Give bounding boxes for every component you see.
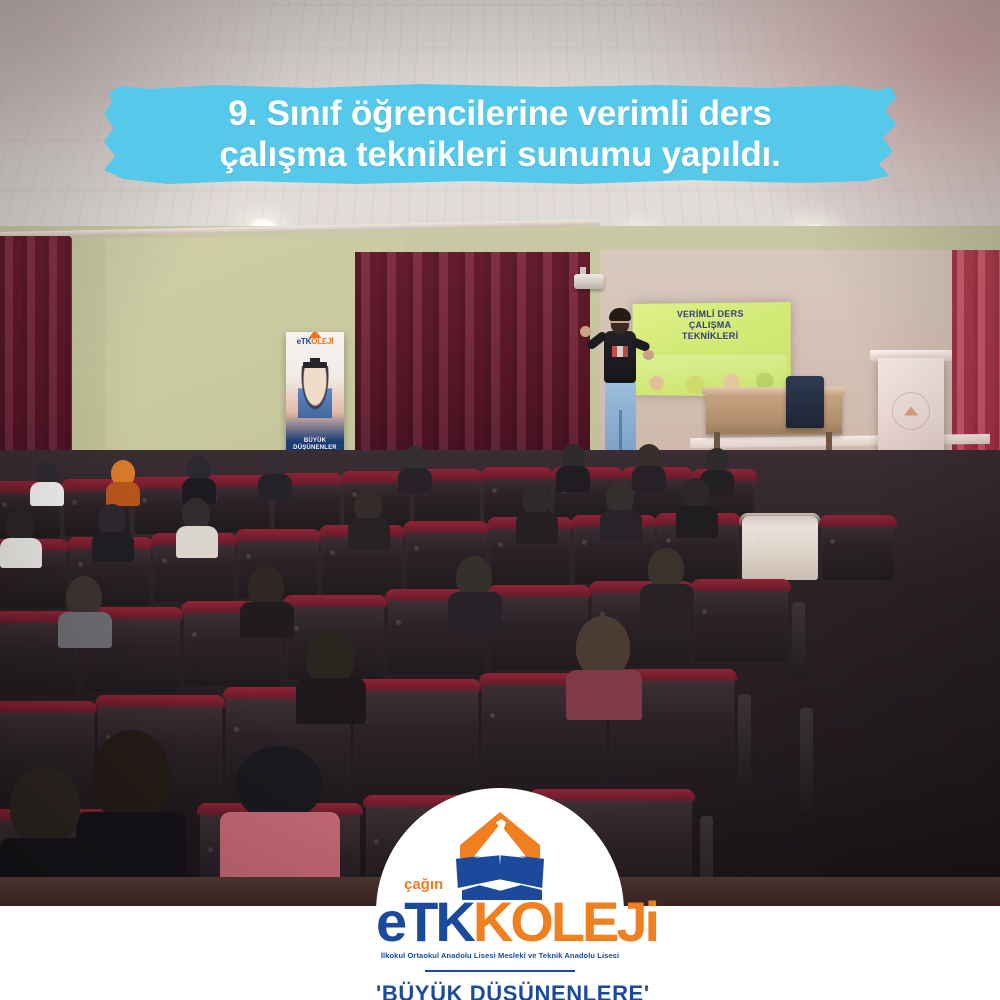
rollup-brand: eTKOLEJİ [286,337,344,346]
podium-logo [892,392,930,430]
audience-member [176,498,218,552]
seat [822,518,894,580]
brand-e: e [376,890,404,953]
stage-chair [786,376,824,428]
person-body [398,468,432,494]
poster-canvas: VERİMLİ DERS ÇALIŞMA TEKNİKLERİ eTKOLEJİ [0,0,1000,1000]
audience-member [296,630,366,716]
rollup-brand-rest: OLEJİ [311,337,333,346]
etk-koleji-logo-icon [454,812,546,892]
headline-line-2: çalışma teknikleri sunumu yapıldı. [219,134,780,175]
screen-title-line2: ÇALIŞMA [633,319,791,331]
person-body [176,526,218,558]
audience-member [556,444,590,490]
audience-member [640,548,694,612]
person-body [600,510,642,542]
seat [742,516,818,580]
audience-member [182,456,216,498]
person-body [106,482,140,506]
audience-member [0,510,42,562]
audience-member [30,462,64,502]
presenter-hair [609,308,631,321]
logo-book-right-page [499,854,544,888]
screen-title: VERİMLİ DERS ÇALIŞMA TEKNİKLERİ [633,308,791,342]
person-body [676,506,718,538]
rollup-banner: eTKOLEJİ BÜYÜK DÜŞÜNENLER İÇİN [286,332,344,462]
audience-member [240,566,294,630]
brand-rest: OLEJi [510,890,657,953]
audience-member [516,484,558,538]
brand-k: K [473,890,510,953]
brand-wordmark: çağıneTKKOLEJi [376,894,624,950]
brand-prefix: çağın [404,877,443,892]
rollup-brand-tk: TK [301,337,311,346]
person-body [30,482,64,506]
person-body [296,678,366,724]
presenter [586,310,650,462]
seat-armrest [792,602,805,680]
presenter-legs [605,380,636,452]
person-body [448,592,502,628]
presenter-left-hand [580,326,591,337]
audience-member [348,490,390,544]
presenter-right-hand [643,350,654,360]
rollup-slogan-line1: BÜYÜK [286,438,344,445]
audience-member [566,616,642,710]
person-body [240,602,294,638]
headline-banner: 9. Sınıf öğrencilerine verimli ders çalı… [104,84,896,184]
logo-book-icon [456,848,544,888]
person-body [58,612,112,648]
presenter-shirt-print [612,346,628,357]
ceiling-projector [574,274,604,289]
seat [694,582,788,662]
audience-member [58,576,112,640]
screen-title-line3: TEKNİKLERİ [633,331,791,343]
audience-member [220,746,340,896]
graduation-cap-icon [303,362,327,368]
audience-member [398,446,432,490]
seat-armrest [738,694,751,790]
headline-line-1: 9. Sınıf öğrencilerine verimli ders [228,93,771,134]
person-body [348,518,390,550]
person-body [640,584,694,620]
person-head [576,616,630,678]
divider-rule [425,970,575,972]
seat-armrest [800,708,813,812]
person-body [258,474,292,500]
audience-member [106,460,140,500]
audience-member [448,556,502,620]
audience-member [92,504,134,556]
person-body [566,670,642,720]
projection-screen: VERİMLİ DERS ÇALIŞMA TEKNİKLERİ [633,302,791,397]
presenter-leg-split [619,410,622,452]
person-body [556,466,590,492]
person-body [516,512,558,544]
brand-slogan: 'BÜYÜK DÜŞÜNENLERE' [376,981,624,1000]
audience-member [600,482,642,536]
person-head [236,746,322,820]
rollup-student-photo [298,366,332,418]
person-body [92,532,134,562]
audience-member [676,478,718,532]
podium-logo-roof-icon [904,407,918,416]
seat [354,682,478,790]
logo-book-left-page [456,854,501,888]
brand-tk: TK [404,890,473,953]
person-head [10,766,80,846]
brand-logo-block: çağıneTKKOLEJi İlkokul Ortaokul Anadolu … [376,790,624,1000]
audience-member [258,452,292,494]
person-body [0,538,42,568]
